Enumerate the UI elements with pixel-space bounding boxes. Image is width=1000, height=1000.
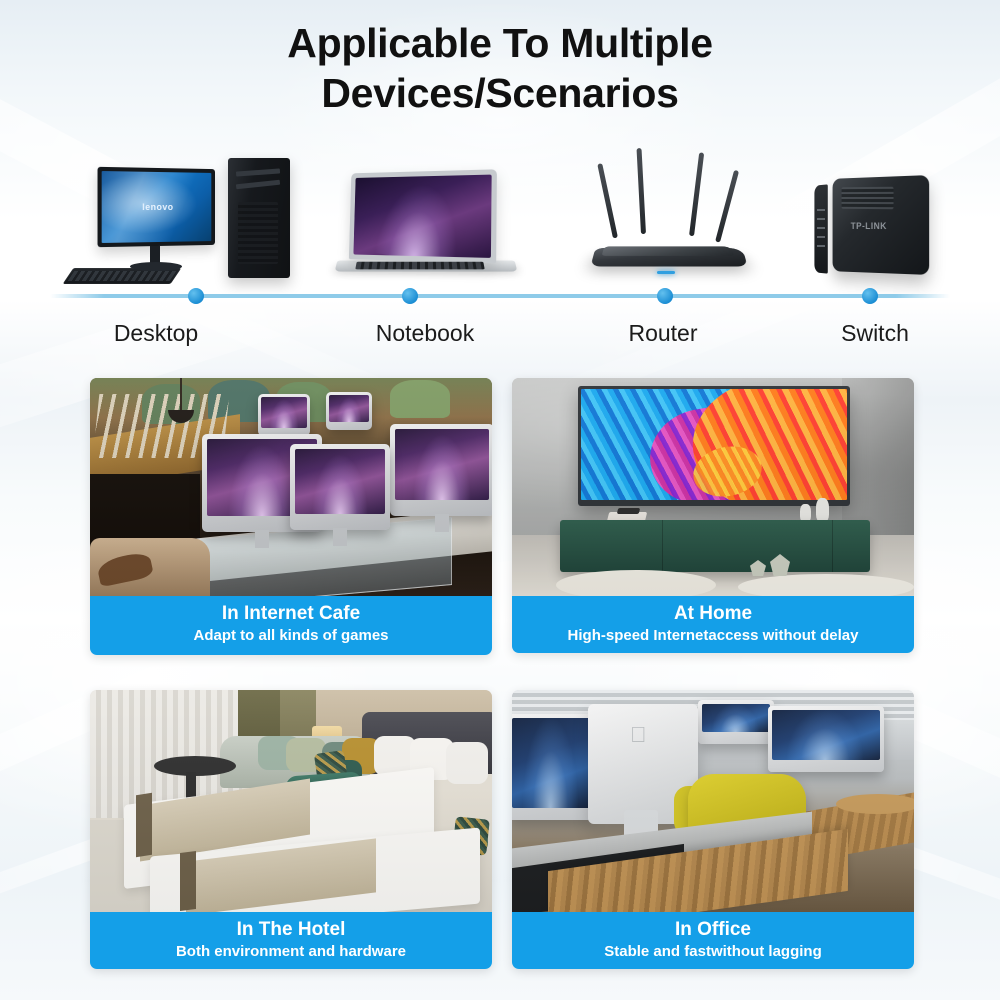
switch-vents [842,187,894,209]
internet-cafe-photo [90,378,492,596]
scenario-subheading: Both environment and hardware [96,942,486,961]
timeline-dot-switch [862,288,878,304]
timeline-dot-router [657,288,673,304]
living-room-tv-photo [512,378,914,596]
scenario-card-at-home[interactable]: At Home High-speed Internetaccess withou… [512,378,914,653]
scenario-heading: At Home [518,601,908,626]
scenario-heading: In Office [518,917,908,942]
scenario-caption: At Home High-speed Internetaccess withou… [512,596,914,653]
router-antenna [597,163,618,238]
device-label-desktop: Desktop [114,318,198,348]
scenario-subheading: High-speed Internetaccess without delay [518,626,908,645]
switch-leds [817,209,825,249]
router-led [657,271,675,274]
wifi-router-icon [585,150,755,290]
scenario-caption: In Office Stable and fastwithout lagging [512,912,914,969]
desktop-computer-icon: lenovo [60,150,310,290]
router-top-panel [602,246,735,256]
network-switch-icon: TP-LINK [805,165,965,290]
laptop-keyboard [355,262,484,270]
apple-logo-icon:  [630,724,650,746]
tp-link-logo: TP-LINK [851,221,887,231]
scenario-card-office[interactable]:  In Office Stable and fastwithout laggi… [512,690,914,969]
scenario-heading: In Internet Cafe [96,601,486,626]
router-antenna [689,152,704,236]
device-timeline [50,294,950,298]
scenario-card-internet-cafe[interactable]: In Internet Cafe Adapt to all kinds of g… [90,378,492,655]
device-label-switch: Switch [841,318,909,348]
laptop-screen [349,169,497,263]
scenario-subheading: Stable and fastwithout lagging [518,942,908,961]
scenario-subheading: Adapt to all kinds of games [96,626,486,645]
router-antenna [637,148,646,234]
page-title-line-2: Devices/Scenarios [0,68,1000,118]
timeline-dot-notebook [402,288,418,304]
device-illustration-row: lenovo TP-LINK [0,140,1000,290]
device-label-row: Desktop Notebook Router Switch [0,318,1000,352]
monitor-icon: lenovo [98,167,215,247]
router-antenna [715,170,739,243]
scenario-heading: In The Hotel [96,917,486,942]
device-label-notebook: Notebook [376,318,474,348]
timeline-dot-desktop [188,288,204,304]
tower-case-icon [228,158,290,278]
scenario-caption: In Internet Cafe Adapt to all kinds of g… [90,596,492,655]
page-title-line-1: Applicable To Multiple [0,18,1000,68]
scenario-caption: In The Hotel Both environment and hardwa… [90,912,492,969]
office-workspace-photo:  [512,690,914,912]
hotel-room-photo [90,690,492,912]
lenovo-logo: lenovo [142,202,173,212]
laptop-icon [330,165,540,290]
scenario-card-hotel[interactable]: In The Hotel Both environment and hardwa… [90,690,492,969]
device-label-router: Router [628,318,697,348]
page-title: Applicable To Multiple Devices/Scenarios [0,18,1000,118]
product-feature-banner: Applicable To Multiple Devices/Scenarios… [0,0,1000,1000]
monitor-base [130,262,182,271]
television-icon [578,386,850,506]
